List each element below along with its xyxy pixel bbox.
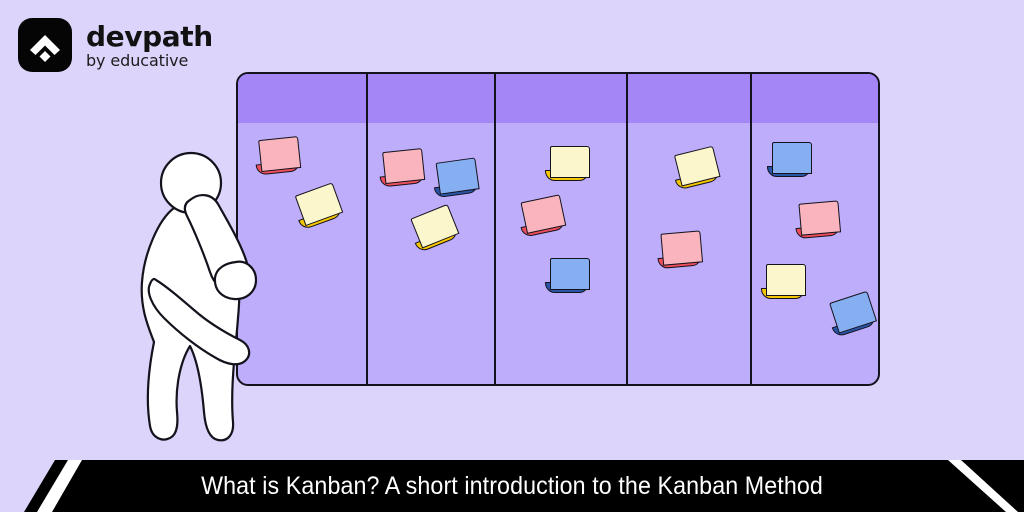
sticky-note[interactable]: [520, 194, 567, 239]
sticky-note-body: [772, 142, 812, 174]
sticky-note[interactable]: [674, 146, 722, 193]
sticky-note[interactable]: [798, 200, 841, 241]
sticky-note[interactable]: [550, 258, 590, 296]
sticky-note[interactable]: [550, 146, 590, 184]
column-divider-3: [626, 74, 628, 384]
sticky-note-body: [660, 230, 703, 265]
brand-tagline: by educative: [86, 53, 213, 69]
brand-name: devpath: [86, 23, 213, 51]
sticky-note-body: [550, 146, 590, 178]
sticky-note[interactable]: [829, 291, 879, 340]
column-divider-2: [494, 74, 496, 384]
sticky-note[interactable]: [382, 148, 426, 190]
brand-wordmark: devpath by educative: [86, 21, 213, 69]
sticky-note-body: [798, 200, 841, 235]
sticky-note-body: [766, 264, 806, 296]
illustration-canvas: devpath by educative: [0, 0, 1024, 512]
sticky-note-body: [829, 291, 877, 334]
sticky-note[interactable]: [410, 204, 461, 254]
sticky-note[interactable]: [766, 264, 806, 302]
sticky-note[interactable]: [772, 142, 812, 180]
board-header-band: [238, 74, 878, 123]
column-divider-4: [750, 74, 752, 384]
column-divider-1: [366, 74, 368, 384]
title-banner: What is Kanban? A short introduction to …: [0, 460, 1024, 512]
sticky-note[interactable]: [660, 230, 703, 271]
sticky-note[interactable]: [295, 182, 346, 231]
brand-logo: devpath by educative: [18, 18, 213, 72]
sticky-note-body: [436, 157, 480, 194]
kanban-board: [236, 72, 880, 386]
chevron-diamond-icon: [18, 18, 72, 72]
sticky-note-body: [382, 148, 425, 184]
thinking-person-illustration: [128, 150, 288, 450]
sticky-note[interactable]: [436, 157, 481, 200]
sticky-note-body: [550, 258, 590, 290]
